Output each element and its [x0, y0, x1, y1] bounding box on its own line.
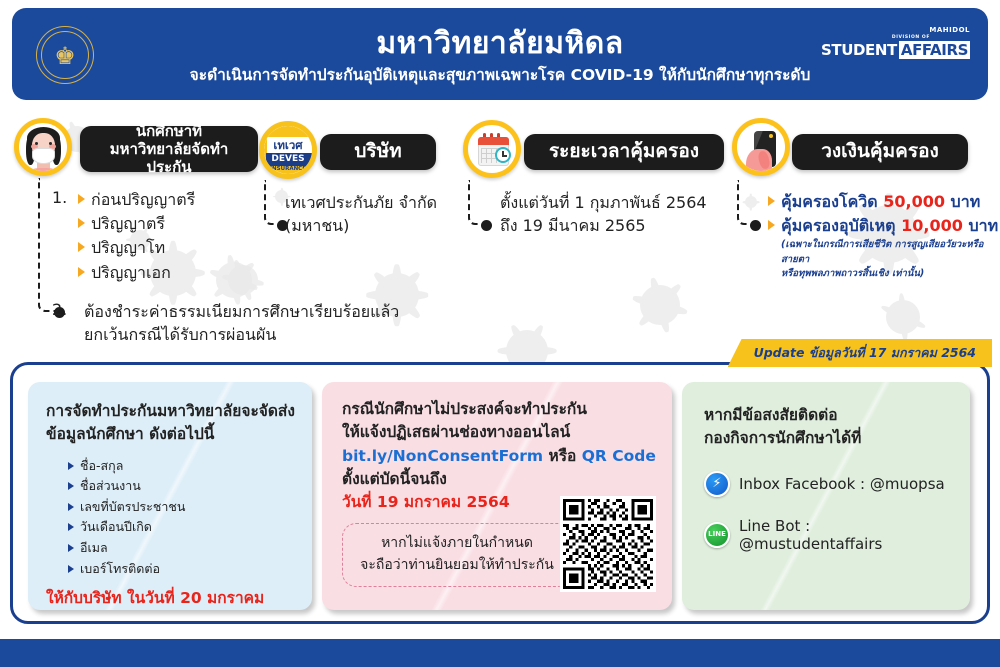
pill-label-coverage-amount: วงเงินคุ้มครอง: [792, 134, 968, 170]
notice-line1: หากไม่แจ้งภายในกำหนด: [355, 533, 559, 555]
coverage-covid-amount: 50,000: [883, 192, 945, 211]
coverage-amount-block: คุ้มครองโควิด 50,000 บาท คุ้มครองอุบัติเ…: [768, 190, 1000, 281]
coverage-accident-amount: 10,000: [901, 216, 963, 235]
triangle-bullet-icon: [78, 194, 85, 204]
infographic-canvas: ♚ มหาวิทยาลัยมหิดล จะดำเนินการจัดทำประกั…: [0, 0, 1000, 667]
students-condition-block: 2. ต้องชำระค่าธรรมเนียมการศึกษาเรียบร้อย…: [52, 300, 452, 346]
pink-panel-link-row: bit.ly/NonConsentForm หรือ QR Code: [342, 445, 656, 468]
list-item: ปริญญาเอก: [78, 261, 195, 284]
coverage-fineprint-line1: (เฉพาะในกรณีการเสียชีวิต การสูญเสียอวัยว…: [781, 238, 1000, 267]
badge-affairs-text: AFFAIRS: [899, 41, 970, 59]
page-subtitle: จะดำเนินการจัดทำประกันอุบัติเหตุและสุขภา…: [12, 62, 988, 87]
list-item: ปริญญาโท: [78, 236, 195, 259]
pill-label-company: บริษัท: [320, 134, 436, 170]
contact-line-label: Line Bot : @mustudentaffairs: [739, 517, 954, 553]
triangle-bullet-icon: [78, 242, 85, 252]
blue-panel-head-line2: ข้อมูลนักศึกษา ดังต่อไปนี้: [46, 423, 296, 446]
condition-item-number: 2.: [52, 300, 84, 346]
student-level-label: ก่อนปริญญาตรี: [91, 188, 195, 211]
green-panel-head-line2: กองกิจการนักศึกษาได้ที่: [704, 427, 954, 450]
calendar-clock-icon: [463, 120, 521, 178]
student-level-label: ปริญญาตรี: [91, 212, 165, 235]
data-field-label: อีเมล: [80, 539, 108, 557]
student-mask-avatar-icon: [14, 118, 72, 176]
contact-line[interactable]: LINE Line Bot : @mustudentaffairs: [704, 517, 954, 553]
condition-line2: ยกเว้นกรณีได้รับการผ่อนผัน: [84, 323, 399, 346]
list-item: วันเดือนปีเกิด: [68, 518, 296, 536]
triangle-bullet-icon: [78, 267, 85, 277]
triangle-bullet-icon: [68, 503, 74, 511]
triangle-bullet-icon: [68, 565, 74, 573]
list-item: เลขที่บัตรประชาชน: [68, 498, 296, 516]
pill-students-line1: นักศึกษาที่: [94, 122, 244, 140]
panel-non-consent: กรณีนักศึกษาไม่ประสงค์จะทำประกัน ให้แจ้ง…: [322, 382, 672, 610]
deves-insurance-logo-icon: เทเวศ DEVES INSURANCE: [259, 121, 317, 179]
pink-panel-line2: ให้แจ้งปฏิเสธผ่านช่องทางออนไลน์: [342, 421, 656, 444]
update-ribbon: Update ข้อมูลวันที่ 17 มกราคม 2564: [728, 339, 992, 367]
list-item: ชื่อส่วนงาน: [68, 477, 296, 495]
list-item: ปริญญาตรี: [78, 212, 195, 235]
badge-mahidol-text: MAHIDOL: [821, 26, 970, 34]
company-name-line1: เทเวศประกันภัย จำกัด: [285, 191, 505, 214]
triangle-bullet-icon: [78, 218, 85, 228]
badge-division-text: DIVISION OF: [821, 35, 930, 40]
student-level-label: ปริญญาเอก: [91, 261, 171, 284]
page-header: ♚ มหาวิทยาลัยมหิดล จะดำเนินการจัดทำประกั…: [12, 8, 988, 100]
pill-company-text: บริษัท: [354, 140, 401, 163]
list-item: เบอร์โทรติดต่อ: [68, 560, 296, 578]
deves-logo-thai-text: เทเวศ: [264, 137, 312, 153]
panel-data-to-send: การจัดทำประกันมหาวิทยาลัยจะจัดส่ง ข้อมูล…: [28, 382, 312, 610]
company-name-line2: (มหาชน): [285, 214, 505, 237]
notice-line2: จะถือว่าท่านยินยอมให้ทำประกัน: [355, 555, 559, 577]
coverage-covid-label: คุ้มครองโควิด: [781, 192, 878, 211]
coverage-period-block: ตั้งแต่วันที่ 1 กุมภาพันธ์ 2564 ถึง 19 ม…: [500, 191, 750, 237]
coverage-row: คุ้มครองโควิด 50,000 บาท: [768, 190, 1000, 213]
facebook-messenger-icon: ⚡: [704, 471, 730, 497]
blue-panel-list: ชื่อ-สกุล ชื่อส่วนงาน เลขที่บัตรประชาชน …: [68, 457, 296, 578]
nonconsent-form-link[interactable]: bit.ly/NonConsentForm: [342, 447, 543, 465]
contact-facebook[interactable]: ⚡ Inbox Facebook : @muopsa: [704, 471, 954, 497]
pink-panel-line1: กรณีนักศึกษาไม่ประสงค์จะทำประกัน: [342, 398, 656, 421]
company-info-block: เทเวศประกันภัย จำกัด (มหาชน): [285, 191, 505, 237]
panel-contact: หากมีข้อสงสัยติดต่อ กองกิจการนักศึกษาได้…: [682, 382, 970, 610]
blue-panel-deadline: ให้กับบริษัท ในวันที่ 20 มกราคม 2564: [46, 585, 296, 610]
students-item-number: 1.: [52, 188, 78, 285]
pill-label-coverage-period: ระยะเวลาคุ้มครอง: [524, 134, 724, 170]
pill-students-line2: มหาวิทยาลัยจัดทำประกัน: [94, 140, 244, 177]
triangle-bullet-icon: [68, 544, 74, 552]
footer-bar: [0, 639, 1000, 667]
virus-decoration-icon: [886, 300, 920, 334]
list-item: อีเมล: [68, 539, 296, 557]
data-field-label: เลขที่บัตรประชาชน: [80, 498, 185, 516]
data-field-label: เบอร์โทรติดต่อ: [80, 560, 160, 578]
list-item: ชื่อ-สกุล: [68, 457, 296, 475]
coverage-fineprint-line2: หรือทุพพลภาพถาวรสิ้นเชิง เท่านั้น): [781, 267, 1000, 281]
coverage-covid-unit: บาท: [951, 192, 981, 211]
pink-panel-line4: ตั้งแต่บัดนี้จนถึง: [342, 468, 656, 491]
student-level-label: ปริญญาโท: [91, 236, 165, 259]
pill-period-text: ระยะเวลาคุ้มครอง: [549, 140, 699, 163]
triangle-bullet-icon: [68, 482, 74, 490]
connector-dot-col4: [750, 220, 761, 231]
triangle-bullet-icon: [768, 196, 775, 206]
coverage-accident-label: คุ้มครองอุบัติเหตุ: [781, 216, 896, 235]
data-field-label: วันเดือนปีเกิด: [80, 518, 152, 536]
hand-holding-card-icon: [732, 118, 790, 176]
deves-logo-latin-text: DEVES: [264, 153, 312, 166]
coverage-row: คุ้มครองอุบัติเหตุ 10,000 บาท: [768, 214, 1000, 237]
qr-code-label: QR Code: [582, 447, 656, 465]
qr-code-nonconsent-form[interactable]: [560, 496, 656, 592]
green-panel-head-line1: หากมีข้อสงสัยติดต่อ: [704, 404, 954, 427]
data-field-label: ชื่อส่วนงาน: [80, 477, 141, 495]
students-list-block: 1. ก่อนปริญญาตรี ปริญญาตรี ปริญญาโท ปริญ…: [52, 188, 302, 285]
badge-student-text: STUDENT: [821, 41, 897, 59]
virus-decoration-icon: [640, 285, 680, 325]
period-start-line: ตั้งแต่วันที่ 1 กุมภาพันธ์ 2564: [500, 191, 750, 214]
data-field-label: ชื่อ-สกุล: [80, 457, 123, 475]
pill-amount-text: วงเงินคุ้มครอง: [821, 140, 939, 163]
triangle-bullet-icon: [68, 462, 74, 470]
pink-panel-notice-box: หากไม่แจ้งภายในกำหนด จะถือว่าท่านยินยอมใ…: [342, 523, 572, 586]
link-separator: หรือ: [543, 447, 582, 465]
contact-facebook-label: Inbox Facebook : @muopsa: [739, 475, 945, 493]
blue-panel-head-line1: การจัดทำประกันมหาวิทยาลัยจะจัดส่ง: [46, 400, 296, 423]
student-affairs-logo: MAHIDOL DIVISION OF STUDENT AFFAIRS: [821, 26, 970, 59]
coverage-accident-unit: บาท: [968, 216, 998, 235]
list-item: ก่อนปริญญาตรี: [78, 188, 195, 211]
triangle-bullet-icon: [68, 523, 74, 531]
pill-label-students: นักศึกษาที่ มหาวิทยาลัยจัดทำประกัน: [80, 126, 258, 172]
triangle-bullet-icon: [768, 220, 775, 230]
line-app-icon: LINE: [704, 522, 730, 548]
condition-line1: ต้องชำระค่าธรรมเนียมการศึกษาเรียบร้อยแล้…: [84, 300, 399, 323]
period-end-line: ถึง 19 มีนาคม 2565: [500, 214, 750, 237]
deves-logo-sub-text: INSURANCE: [264, 166, 312, 172]
